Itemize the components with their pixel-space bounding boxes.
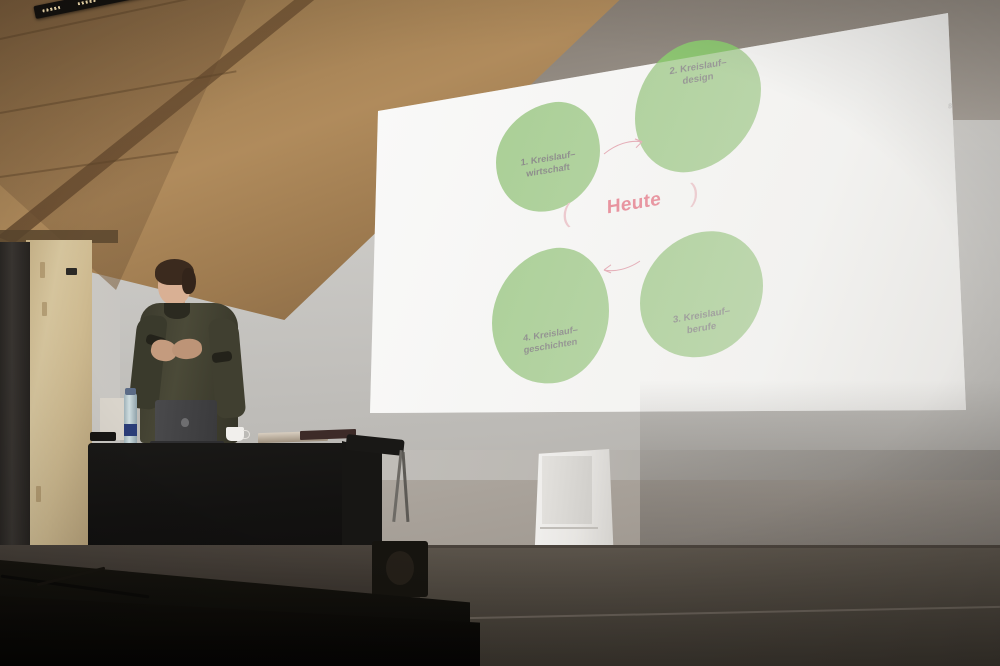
wall-shadow-right [640,380,1000,550]
laptop-logo-icon [181,418,189,427]
arrow-1-to-2-icon [604,140,642,154]
wood-wall-panel [26,240,92,550]
bottle-cap [125,388,136,395]
bracket-left: ( [562,197,571,229]
center-label-heute: Heute [574,183,694,225]
blob-kreislaufdesign: 2. Kreislauf– design [635,30,761,181]
blob-kreislaufgeschichten: 4. Kreislauf– geschichten [492,239,609,393]
bottle-label [124,424,137,436]
subwoofer-cone [386,551,414,585]
water-bottle [124,393,137,445]
arrow-3-to-4-icon [604,261,640,272]
blob-kreislaufberufe: 3. Kreislauf– berufe [640,222,763,367]
speaker-seam [540,527,598,529]
screenshot-root: 1. Kreislauf– wirtschaft 2. Kreislauf– d… [0,0,1000,666]
wall-socket [66,268,77,275]
presenter-hair-side [182,268,196,294]
coffee-cup [226,427,244,441]
arrow-3-to-4-head-icon [604,265,611,274]
speaker-grille [542,456,592,524]
desk-device [90,432,116,441]
curtain [0,242,30,572]
presenter-collar [164,303,190,319]
slide-page-number: 8 [948,103,952,111]
